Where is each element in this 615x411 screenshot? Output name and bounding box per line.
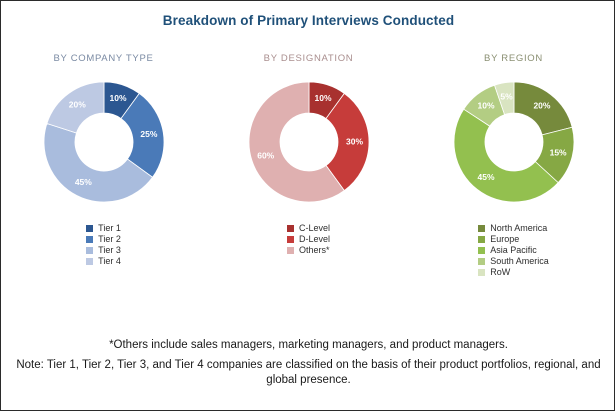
chart-heading-region: BY REGION	[484, 53, 543, 64]
legend-swatch-icon	[86, 247, 93, 254]
pie-slice-label: 60%	[257, 150, 274, 160]
pie-slice-label: 25%	[140, 129, 157, 139]
pie-slice-label: 45%	[74, 177, 91, 187]
legend-swatch-icon	[86, 258, 93, 265]
legend-item[interactable]: Tier 4	[86, 257, 121, 266]
pie-slice-label: 10%	[314, 93, 331, 103]
chart-panel-region: BY REGION 20%15%45%10%5% North AmericaEu…	[411, 53, 615, 277]
pie-slice-label: 45%	[477, 172, 494, 182]
legend-item-label: Tier 2	[98, 235, 121, 244]
pie-slice-label: 20%	[533, 100, 550, 110]
legend-item-label: D-Level	[299, 235, 330, 244]
legend-region: North AmericaEuropeAsia PacificSouth Ame…	[478, 224, 549, 277]
donut-svg-company-type: 10%25%45%20%	[36, 74, 172, 210]
legend-item-label: Europe	[490, 235, 519, 244]
legend-item[interactable]: RoW	[478, 268, 510, 277]
donut-svg-designation: 10%30%60%	[241, 74, 377, 210]
pie-slice-label: 10%	[109, 93, 126, 103]
chart-panel-company-type: BY COMPANY TYPE 10%25%45%20% Tier 1Tier …	[1, 53, 206, 266]
legend-item[interactable]: Tier 3	[86, 246, 121, 255]
legend-swatch-icon	[478, 236, 485, 243]
donut-chart-region: 20%15%45%10%5%	[446, 74, 582, 210]
pie-slice-label: 10%	[477, 100, 494, 110]
legend-item-label: Tier 1	[98, 224, 121, 233]
legend-item[interactable]: Tier 2	[86, 235, 121, 244]
legend-item-label: Others*	[299, 246, 330, 255]
donut-chart-designation: 10%30%60%	[241, 74, 377, 210]
pie-slice-label: 15%	[549, 147, 566, 157]
legend-company-type: Tier 1Tier 2Tier 3Tier 4	[86, 224, 121, 266]
donut-slices-region	[453, 82, 573, 202]
donut-svg-region: 20%15%45%10%5%	[446, 74, 582, 210]
legend-designation: C-LevelD-LevelOthers*	[287, 224, 330, 255]
footnote-note: Note: Tier 1, Tier 2, Tier 3, and Tier 4…	[1, 358, 615, 388]
legend-item[interactable]: Others*	[287, 246, 330, 255]
legend-item[interactable]: Asia Pacific	[478, 246, 537, 255]
chart-heading-company-type: BY COMPANY TYPE	[53, 53, 153, 64]
legend-swatch-icon	[287, 225, 294, 232]
legend-swatch-icon	[478, 247, 485, 254]
legend-swatch-icon	[287, 247, 294, 254]
charts-row: BY COMPANY TYPE 10%25%45%20% Tier 1Tier …	[1, 53, 615, 303]
footnotes: *Others include sales managers, marketin…	[1, 339, 615, 388]
legend-item-label: North America	[490, 224, 547, 233]
legend-item-label: Asia Pacific	[490, 246, 537, 255]
pie-slice-label: 30%	[345, 136, 362, 146]
legend-swatch-icon	[478, 258, 485, 265]
legend-item[interactable]: Tier 1	[86, 224, 121, 233]
page-title: Breakdown of Primary Interviews Conducte…	[1, 13, 615, 28]
legend-swatch-icon	[86, 236, 93, 243]
legend-item[interactable]: North America	[478, 224, 547, 233]
pie-slice-label: 5%	[500, 91, 513, 101]
legend-item[interactable]: South America	[478, 257, 549, 266]
legend-item-label: RoW	[490, 268, 510, 277]
chart-panel-designation: BY DESIGNATION 10%30%60% C-LevelD-LevelO…	[206, 53, 411, 255]
legend-swatch-icon	[478, 225, 485, 232]
legend-item[interactable]: C-Level	[287, 224, 330, 233]
legend-swatch-icon	[478, 269, 485, 276]
legend-item-label: South America	[490, 257, 549, 266]
legend-item-label: Tier 3	[98, 246, 121, 255]
donut-chart-company-type: 10%25%45%20%	[36, 74, 172, 210]
chart-heading-designation: BY DESIGNATION	[264, 53, 354, 64]
footnote-others: *Others include sales managers, marketin…	[1, 339, 615, 351]
legend-item[interactable]: D-Level	[287, 235, 330, 244]
legend-item-label: Tier 4	[98, 257, 121, 266]
legend-item[interactable]: Europe	[478, 235, 519, 244]
pie-slice-label: 20%	[68, 99, 85, 109]
primary-interviews-figure: Breakdown of Primary Interviews Conducte…	[0, 0, 615, 411]
donut-slices-company-type	[43, 82, 163, 202]
legend-item-label: C-Level	[299, 224, 330, 233]
legend-swatch-icon	[86, 225, 93, 232]
legend-swatch-icon	[287, 236, 294, 243]
